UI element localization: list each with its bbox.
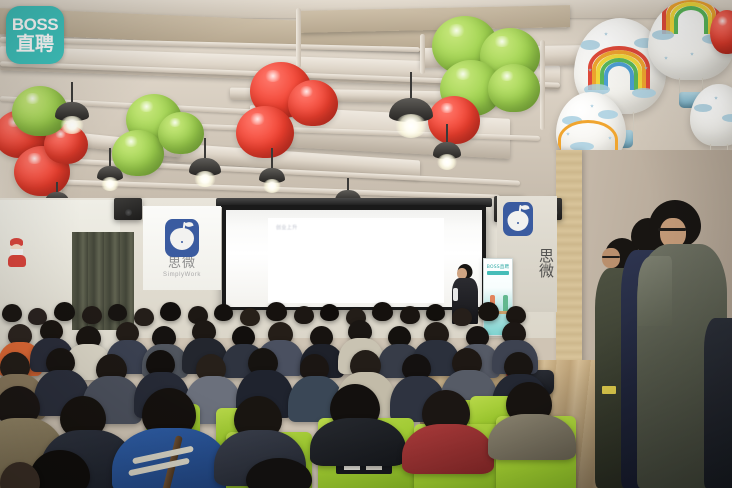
event-photograph: 创业上升 思微 SimplyWork 思微 BOSS直聘 — [0, 0, 732, 488]
apple-icon — [503, 202, 533, 236]
pendant-lamp — [54, 82, 90, 134]
pendant-lamp — [258, 148, 286, 194]
watermark-line-2: 直聘 — [16, 35, 54, 55]
venue-name-cn-vertical: 思微 — [537, 248, 553, 278]
banner-accent-bar — [487, 271, 509, 275]
pendant-lamp — [96, 148, 124, 192]
attendee-torso — [402, 424, 494, 474]
audience — [0, 300, 620, 488]
standing-attendee — [704, 318, 732, 488]
apple-icon — [165, 219, 199, 257]
banner-title: BOSS直聘 — [484, 264, 512, 270]
pendant-lamp — [388, 72, 434, 138]
watermark-line-1: BOSS — [12, 16, 58, 33]
ceiling-beam — [300, 5, 570, 33]
jacket-patch — [602, 386, 616, 394]
venue-name-en: SimplyWork — [163, 272, 201, 278]
pendant-lamp — [432, 124, 462, 172]
slide-title: 创业上升 — [276, 224, 298, 231]
attendee-torso — [488, 414, 576, 460]
wall-speaker — [114, 198, 142, 220]
venue-name-cn: 思微 — [168, 257, 196, 270]
pendant-lamp — [188, 138, 222, 188]
boss-zhipin-watermark: BOSS 直聘 — [6, 6, 64, 64]
venue-logo-panel: 思微 SimplyWork — [143, 206, 221, 290]
santa-decal — [6, 238, 28, 268]
hood — [638, 256, 672, 326]
projection-screen: 创业上升 — [222, 205, 486, 310]
attendee-torso — [310, 418, 406, 466]
